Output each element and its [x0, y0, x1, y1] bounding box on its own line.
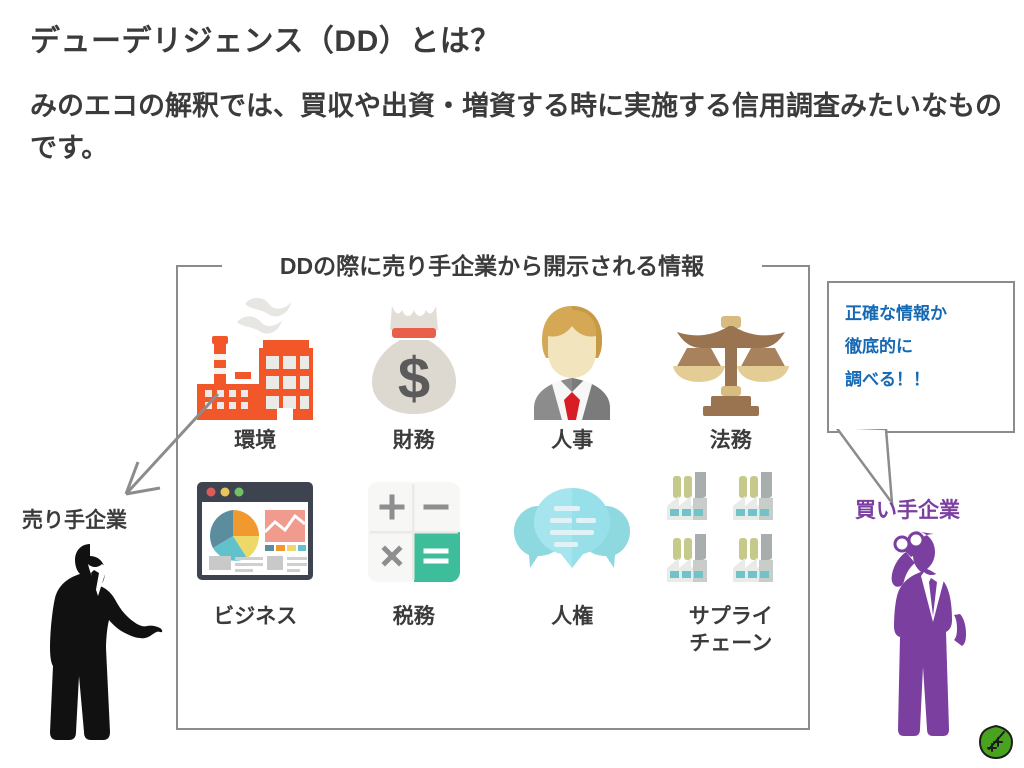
page-title: デューデリジェンス（DD）とは？: [30, 16, 501, 60]
speech-bubble-text: 正確な情報か 徹底的に 調べる！！: [829, 283, 1013, 396]
category-label: 財務: [393, 428, 435, 454]
category-label: 法務: [710, 428, 752, 454]
slide-root: デューデリジェンス（DD）とは？ みのエコの解釈では、買収や出資・増資する時に実…: [0, 0, 1024, 768]
speech-bubbles-icon: [506, 468, 638, 596]
panel-border-top-left: [176, 265, 222, 267]
category-item-human-rights[interactable]: 人権: [493, 468, 652, 657]
seller-person-silhouette: [28, 536, 168, 756]
supply-chain-factories-icon: [665, 468, 797, 596]
svg-text:$: $: [398, 346, 430, 411]
category-label: 人事: [551, 428, 593, 454]
category-label: 人権: [551, 604, 593, 630]
category-label: 税務: [393, 604, 435, 630]
speech-line-2: 徹底的に: [845, 330, 1013, 363]
speech-bubble-tail: [830, 425, 950, 505]
green-leaf-logo: [976, 722, 1016, 762]
panel-border-top-right: [762, 265, 810, 267]
buyer-person-silhouette: [876, 528, 992, 740]
disclosure-arrow: [100, 390, 240, 530]
speech-line-1: 正確な情報か: [845, 297, 1013, 330]
category-item-legal[interactable]: 法務: [652, 292, 811, 454]
category-label: ビジネス: [213, 604, 297, 630]
calculator-icon: [348, 468, 480, 596]
information-category-grid: 環境 $ 財務: [176, 292, 810, 657]
category-label: サプライ チェーン: [689, 604, 773, 657]
money-bag-icon: $: [348, 292, 480, 420]
category-label: 環境: [234, 428, 276, 454]
panel-title: DDの際に売り手企業から開示される情報: [222, 247, 762, 281]
category-item-hr[interactable]: 人事: [493, 292, 652, 454]
category-item-supply-chain[interactable]: サプライ チェーン: [652, 468, 811, 657]
businessperson-avatar-icon: [506, 292, 638, 420]
lead-paragraph: みのエコの解釈では、買収や出資・増資する時に実施する信用調査みたいなものです。: [30, 86, 1010, 170]
speech-line-3: 調べる！！: [845, 363, 1013, 396]
category-item-finance[interactable]: $ 財務: [335, 292, 494, 454]
buyer-label: 買い手企業: [855, 494, 960, 524]
category-item-tax[interactable]: 税務: [335, 468, 494, 657]
buyer-speech-bubble: 正確な情報か 徹底的に 調べる！！: [827, 281, 1015, 433]
scales-of-justice-icon: [665, 292, 797, 420]
